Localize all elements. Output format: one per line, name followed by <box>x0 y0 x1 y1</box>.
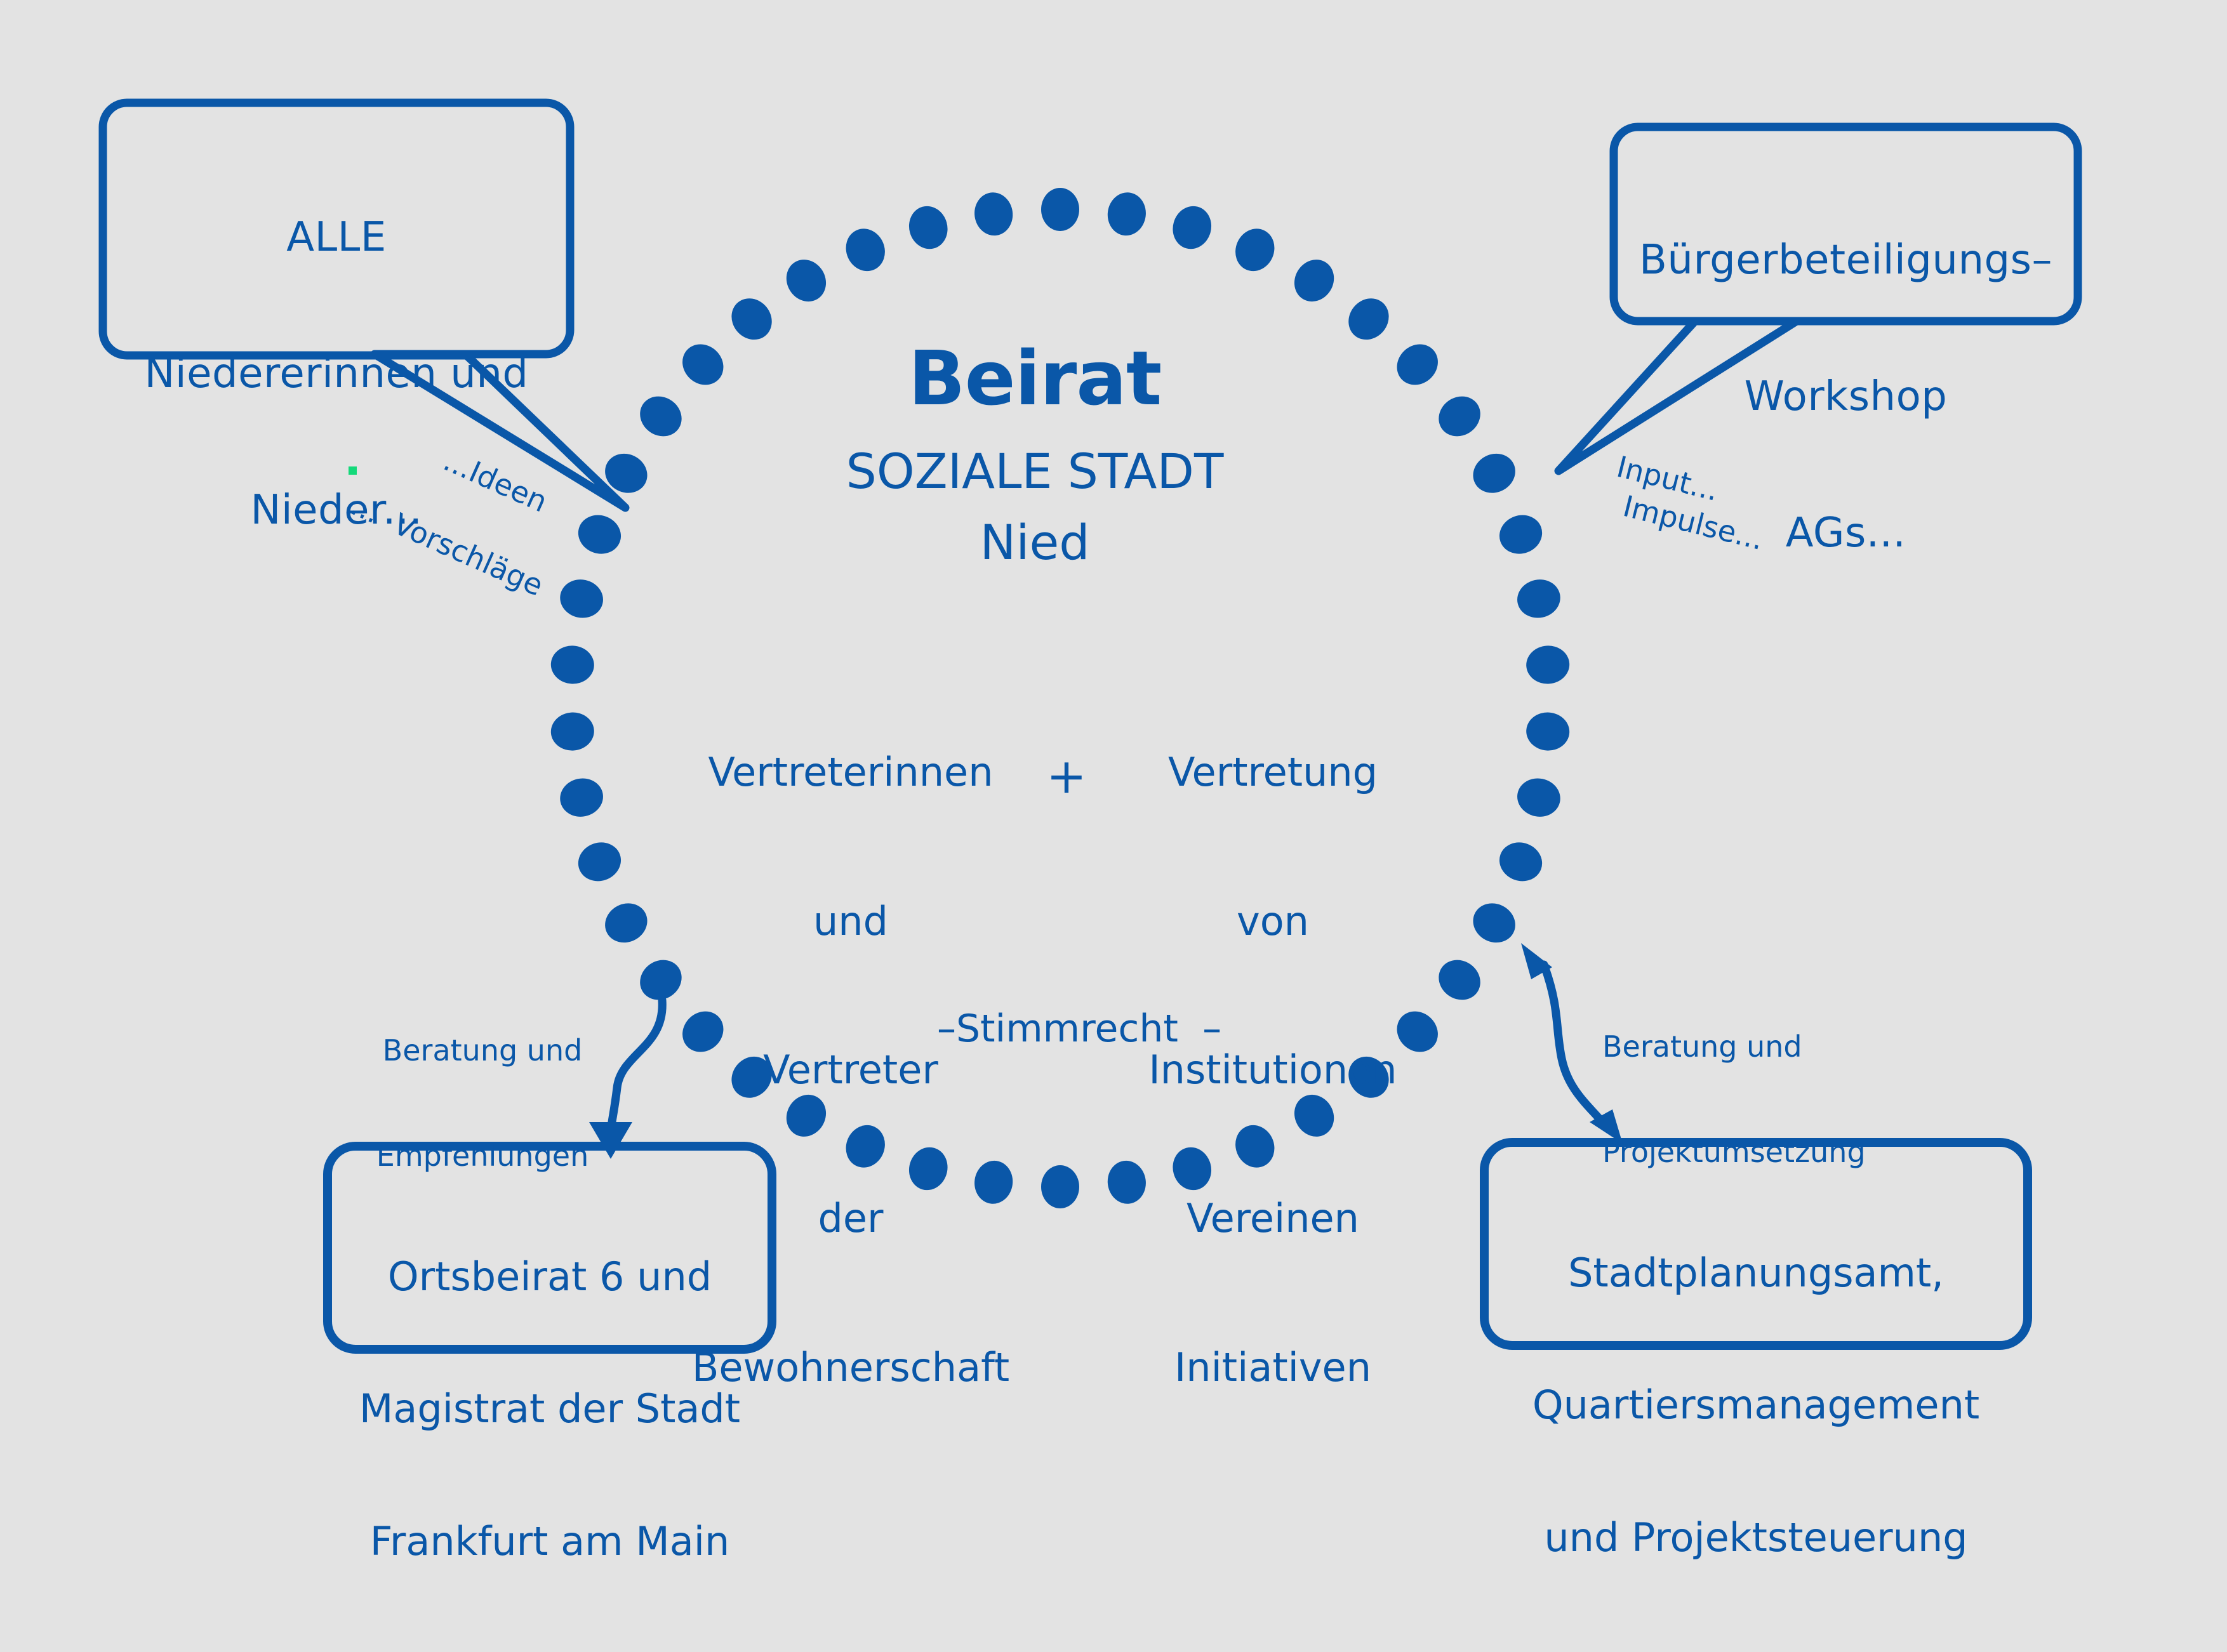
circle-dot <box>573 509 626 559</box>
circle-dot <box>1525 711 1571 751</box>
box-bl-line2: Magistrat der Stadt <box>328 1387 772 1431</box>
bubble-tl-line1: ALLE <box>103 215 570 261</box>
circle-dot <box>550 644 595 685</box>
arrow-left-advice <box>611 1000 662 1133</box>
right-col-line-3: Vereinen <box>1117 1194 1428 1243</box>
center-subtitle-line2: Nied <box>717 515 1352 569</box>
circle-dot <box>1287 252 1342 308</box>
arrow-right-advice <box>1544 965 1602 1122</box>
circle-dot <box>632 388 689 444</box>
circle-dot <box>1431 952 1488 1008</box>
circle-dot <box>598 896 654 950</box>
circle-dot <box>1513 774 1564 821</box>
circle-dot <box>674 336 732 393</box>
left-col-line-2: Vertreter <box>686 1045 1016 1095</box>
circle-dot <box>779 252 834 308</box>
bubble-tl-line2: Niedererinnen und <box>103 352 570 397</box>
box-bottom-left-text: Ortsbeirat 6 und Magistrat der Stadt Fra… <box>328 1166 772 1651</box>
right-col-line-0: Vertretung <box>1117 748 1428 797</box>
plus-operator: + <box>1041 749 1092 803</box>
circle-dot <box>972 190 1016 238</box>
circle-dot <box>839 223 891 277</box>
circle-dot <box>1041 1165 1079 1208</box>
center-subtitle-line1: SOZIALE STADT <box>717 444 1352 498</box>
right-col-line-2: Institutionen <box>1117 1045 1428 1095</box>
circle-dot <box>557 774 607 821</box>
circle-dot <box>1041 188 1079 231</box>
circle-dot <box>573 836 626 887</box>
right-col-line-4: Initiativen <box>1117 1343 1428 1392</box>
circle-dot <box>1388 336 1446 393</box>
left-col-line-1: und <box>686 897 1016 946</box>
diagram-canvas: ALLE Niedererinnen und Nieder... Bürgerb… <box>0 0 2227 1575</box>
box-br-line2: Quartiersmanagement <box>1484 1383 2028 1427</box>
center-footer-stimmrecht: –Stimmrecht – <box>870 1008 1289 1050</box>
circle-dot <box>1513 576 1564 622</box>
box-bl-line3: Frankfurt am Main <box>328 1519 772 1563</box>
bubble-tr-line1: Bürgerbeteiligungs– <box>1614 238 2078 284</box>
circle-dot <box>1494 836 1547 887</box>
circle-dot <box>723 290 780 348</box>
right-col-line-1: von <box>1117 897 1428 946</box>
center-right-column: Vertretung von Institutionen Vereinen In… <box>1117 649 1428 1491</box>
circle-dot <box>1340 290 1397 348</box>
speech-bubble-top-right-text: Bürgerbeteiligungs– Workshop AGs... <box>1614 147 2078 647</box>
left-col-line-0: Vertreterinnen <box>686 748 1016 797</box>
circle-dot <box>550 711 595 751</box>
circle-dot <box>1229 223 1281 277</box>
circle-dot <box>1525 644 1571 685</box>
circle-dot <box>1466 446 1522 500</box>
circle-dot <box>1168 202 1216 254</box>
box-br-line1: Stadtplanungsamt, <box>1484 1251 2028 1295</box>
bubble-tr-line2: Workshop <box>1614 374 2078 420</box>
center-title: Beirat <box>781 336 1289 420</box>
circle-dot <box>1105 190 1148 238</box>
circle-dot <box>1494 509 1547 559</box>
note-br-line1: Beratung und <box>1602 1029 1907 1064</box>
circle-dot <box>904 202 952 254</box>
box-br-line3: und Projektsteuerung <box>1484 1516 2028 1559</box>
circle-dot <box>1431 388 1488 444</box>
box-bottom-right-text: Stadtplanungsamt, Quartiersmanagement un… <box>1484 1163 2028 1648</box>
box-bl-line1: Ortsbeirat 6 und <box>328 1255 772 1298</box>
note-bl-line1: Beratung und <box>356 1033 609 1068</box>
circle-dot <box>1466 896 1522 950</box>
